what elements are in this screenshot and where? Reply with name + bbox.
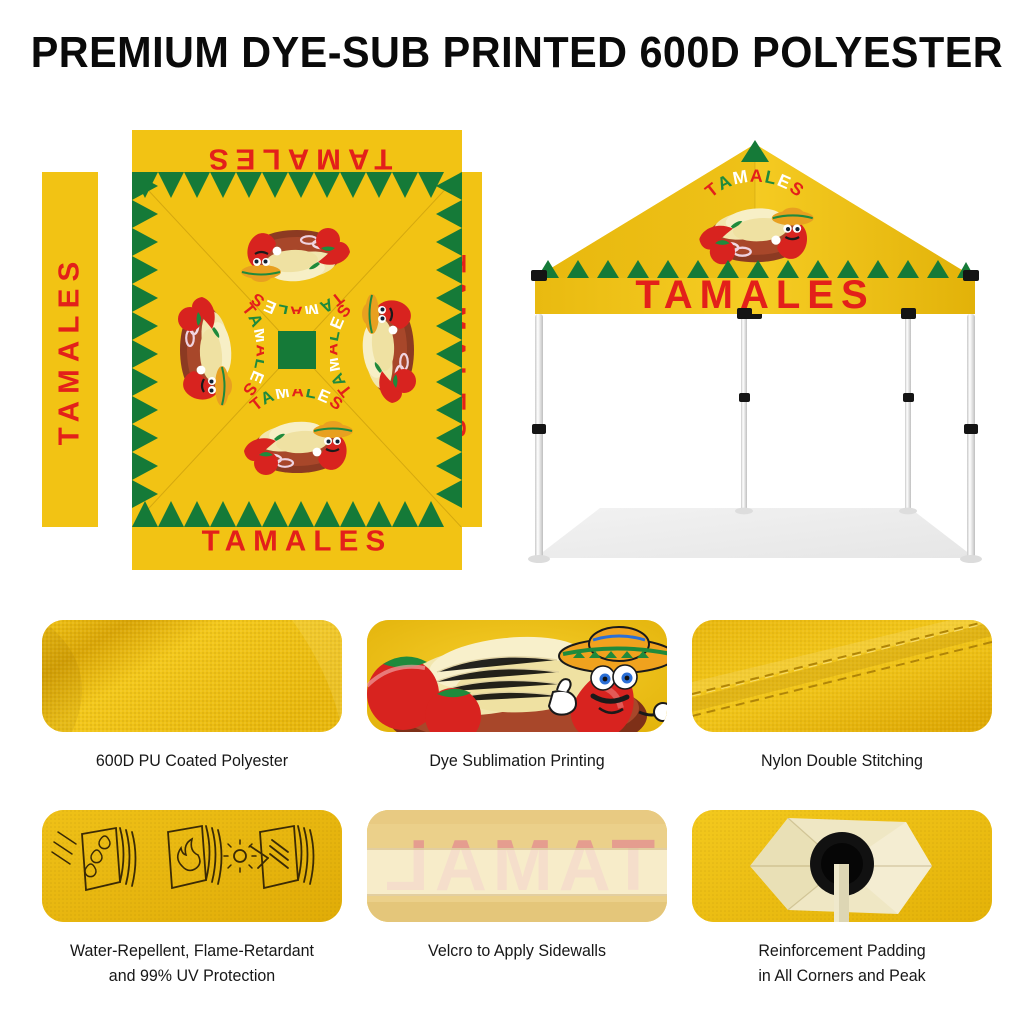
feature-caption: Velcro to Apply Sidewalls (372, 939, 663, 964)
border-triangle (340, 501, 366, 527)
feature-caption: Nylon Double Stitching (697, 749, 988, 774)
tent-floor (535, 508, 975, 558)
valance-left: TAMALES (42, 172, 98, 527)
border-triangle (132, 340, 158, 368)
pop-up-canopy-tent: TAMALES TAMALES (505, 118, 1005, 588)
border-triangle (132, 368, 158, 396)
border-triangle (436, 396, 462, 424)
border-zigzag-top (132, 172, 462, 198)
border-triangle (184, 501, 210, 527)
border-triangle (366, 501, 392, 527)
fabric-swatch-icon (42, 620, 342, 732)
feature-caption: Reinforcement Paddingin All Corners and … (697, 939, 988, 989)
border-zigzag-right (436, 172, 462, 527)
border-triangle (436, 340, 462, 368)
border-triangle (132, 452, 158, 480)
hero-section: TAMALES TAMALES TAMALES TAMALES (0, 110, 1024, 600)
tamales-logo-closeup-icon (367, 620, 667, 732)
border-triangle (288, 172, 314, 198)
page-title: PREMIUM DYE-SUB PRINTED 600D POLYESTER (31, 26, 994, 80)
border-triangle (262, 172, 288, 198)
leg-clamp (532, 393, 978, 434)
border-triangle (236, 172, 262, 198)
border-triangle (158, 501, 184, 527)
border-triangle (132, 284, 158, 312)
border-zigzag-left (132, 172, 158, 527)
border-triangle (132, 396, 158, 424)
valance-top-label: TAMALES (202, 142, 393, 175)
feature-tile-fabric[interactable]: 600D PU Coated Polyester (42, 620, 342, 774)
border-triangle (132, 200, 158, 228)
border-triangle (132, 480, 158, 508)
border-triangle (436, 452, 462, 480)
velcro-strip-icon: TAMAL (367, 810, 667, 922)
canopy-roof-panel (132, 172, 462, 527)
border-triangle (288, 501, 314, 527)
border-triangle (436, 312, 462, 340)
border-triangle (436, 172, 462, 200)
border-triangle (436, 480, 462, 508)
feature-tile-reinforcement[interactable]: Reinforcement Paddingin All Corners and … (692, 810, 992, 989)
border-triangle (436, 256, 462, 284)
tent-valance-label: TAMALES (635, 273, 874, 317)
border-triangle (392, 501, 418, 527)
feature-caption: 600D PU Coated Polyester (47, 749, 338, 774)
tent-leg-back-right (905, 314, 911, 510)
border-triangle (210, 172, 236, 198)
border-triangle (184, 172, 210, 198)
roof-logo-left (166, 291, 264, 409)
border-triangle (436, 200, 462, 228)
border-triangle (314, 501, 340, 527)
feature-caption: Dye Sublimation Printing (372, 749, 663, 774)
valance-left-label: TAMALES (54, 254, 87, 445)
feature-caption: Water-Repellent, Flame-Retardantand 99% … (47, 939, 338, 989)
water-flame-uv-icon (42, 810, 342, 922)
border-zigzag-bottom (132, 501, 462, 527)
feature-tile-protection[interactable]: Water-Repellent, Flame-Retardantand 99% … (42, 810, 342, 989)
tent-leg-front-right (967, 314, 975, 558)
border-triangle (436, 368, 462, 396)
border-triangle (436, 228, 462, 256)
tent-leg-back-left (741, 314, 747, 510)
flat-canopy-layout: TAMALES TAMALES TAMALES TAMALES (42, 130, 482, 570)
border-triangle (132, 256, 158, 284)
border-triangle (132, 312, 158, 340)
feature-tile-velcro[interactable]: TAMAL Velcro to Apply Sidewalls (367, 810, 667, 964)
center-square (278, 331, 316, 369)
border-triangle (132, 424, 158, 452)
border-triangle (436, 284, 462, 312)
border-triangle (236, 501, 262, 527)
border-triangle (132, 228, 158, 256)
border-triangle (366, 172, 392, 198)
border-triangle (436, 424, 462, 452)
double-stitch-icon (692, 620, 992, 732)
border-triangle (314, 172, 340, 198)
peak-grommet-icon (692, 810, 992, 922)
border-triangle (132, 172, 158, 200)
feature-tile-printing[interactable]: Dye Sublimation Printing (367, 620, 667, 774)
border-triangle (340, 172, 366, 198)
features-grid: 600D PU Coated Polyester (0, 612, 1024, 1024)
tent-leg-front-left (535, 314, 543, 558)
border-triangle (210, 501, 236, 527)
feature-tile-stitching[interactable]: Nylon Double Stitching (692, 620, 992, 774)
roof-logo-right (330, 291, 428, 409)
border-triangle (158, 172, 184, 198)
border-triangle (392, 172, 418, 198)
border-triangle (262, 501, 288, 527)
valance-bottom-label: TAMALES (202, 526, 393, 559)
